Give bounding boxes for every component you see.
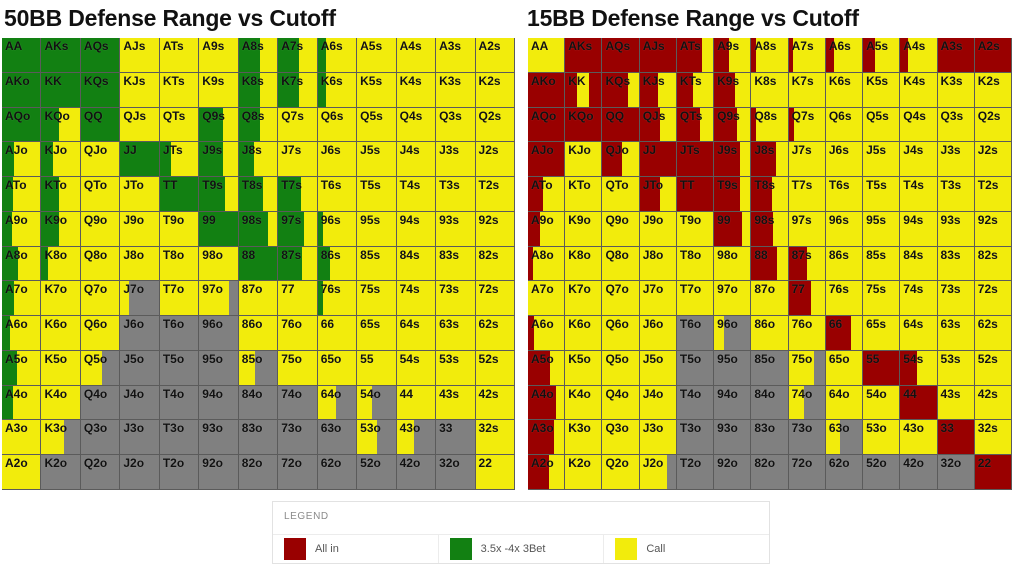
range-cell[interactable]: T7o xyxy=(677,281,714,316)
range-cell[interactable]: 87o xyxy=(751,281,788,316)
range-cell[interactable]: J5s xyxy=(357,142,396,177)
range-cell[interactable]: 86s xyxy=(318,247,357,282)
range-cell[interactable]: T2o xyxy=(160,455,199,490)
range-cell[interactable]: 88 xyxy=(239,247,278,282)
range-cell[interactable]: T5s xyxy=(357,177,396,212)
range-cell[interactable]: J9o xyxy=(640,212,677,247)
range-grid-50bb[interactable]: AAAKsAQsAJsATsA9sA8sA7sA6sA5sA4sA3sA2sAK… xyxy=(2,38,515,490)
range-cell[interactable]: K4o xyxy=(41,386,80,421)
range-cell[interactable]: QTo xyxy=(602,177,639,212)
range-cell[interactable]: Q6o xyxy=(81,316,120,351)
range-cell[interactable]: 64o xyxy=(318,386,357,421)
range-cell[interactable]: T8o xyxy=(160,247,199,282)
range-cell[interactable]: T3o xyxy=(677,420,714,455)
range-cell[interactable]: 85o xyxy=(751,351,788,386)
range-cell[interactable]: 95o xyxy=(714,351,751,386)
range-cell[interactable]: 74s xyxy=(900,281,937,316)
range-cell[interactable]: 93o xyxy=(714,420,751,455)
range-cell[interactable]: 97s xyxy=(278,212,317,247)
range-cell[interactable]: 53s xyxy=(436,351,475,386)
range-cell[interactable]: 65s xyxy=(863,316,900,351)
range-cell[interactable]: 94s xyxy=(900,212,937,247)
range-cell[interactable]: K7o xyxy=(41,281,80,316)
range-cell[interactable]: A8s xyxy=(751,38,788,73)
range-cell[interactable]: ATs xyxy=(677,38,714,73)
range-cell[interactable]: T4s xyxy=(397,177,436,212)
range-cell[interactable]: QQ xyxy=(81,108,120,143)
range-cell[interactable]: 62o xyxy=(826,455,863,490)
range-cell[interactable]: A8o xyxy=(528,247,565,282)
range-cell[interactable]: ATo xyxy=(2,177,41,212)
range-cell[interactable]: A6s xyxy=(826,38,863,73)
range-cell[interactable]: 93s xyxy=(938,212,975,247)
range-cell[interactable]: Q4s xyxy=(900,108,937,143)
range-cell[interactable]: K2s xyxy=(476,73,515,108)
range-cell[interactable]: K5o xyxy=(565,351,602,386)
range-cell[interactable]: T4o xyxy=(677,386,714,421)
range-cell[interactable]: QTs xyxy=(160,108,199,143)
range-cell[interactable]: 75o xyxy=(278,351,317,386)
range-cell[interactable]: 52s xyxy=(975,351,1012,386)
range-cell[interactable]: AKs xyxy=(565,38,602,73)
range-cell[interactable]: Q2s xyxy=(975,108,1012,143)
range-cell[interactable]: 62s xyxy=(476,316,515,351)
range-cell[interactable]: T2s xyxy=(476,177,515,212)
range-cell[interactable]: JTo xyxy=(120,177,159,212)
range-cell[interactable]: 94s xyxy=(397,212,436,247)
range-cell[interactable]: 33 xyxy=(436,420,475,455)
range-cell[interactable]: T7s xyxy=(278,177,317,212)
range-cell[interactable]: JJ xyxy=(120,142,159,177)
range-cell[interactable]: 73o xyxy=(278,420,317,455)
range-cell[interactable]: J7o xyxy=(640,281,677,316)
range-cell[interactable]: 94o xyxy=(714,386,751,421)
range-cell[interactable]: AQs xyxy=(81,38,120,73)
range-cell[interactable]: 83o xyxy=(751,420,788,455)
range-cell[interactable]: A2o xyxy=(528,455,565,490)
range-cell[interactable]: K4s xyxy=(397,73,436,108)
range-cell[interactable]: 53o xyxy=(357,420,396,455)
range-cell[interactable]: Q5o xyxy=(602,351,639,386)
range-cell[interactable]: 96s xyxy=(318,212,357,247)
range-cell[interactable]: Q6s xyxy=(318,108,357,143)
range-cell[interactable]: T9o xyxy=(160,212,199,247)
range-cell[interactable]: J3s xyxy=(436,142,475,177)
range-cell[interactable]: J8s xyxy=(751,142,788,177)
range-cell[interactable]: Q2o xyxy=(81,455,120,490)
range-cell[interactable]: AKo xyxy=(528,73,565,108)
range-cell[interactable]: Q2s xyxy=(476,108,515,143)
range-cell[interactable]: 74s xyxy=(397,281,436,316)
range-cell[interactable]: Q7s xyxy=(789,108,826,143)
range-cell[interactable]: 87s xyxy=(278,247,317,282)
range-cell[interactable]: 86o xyxy=(239,316,278,351)
range-cell[interactable]: KTs xyxy=(677,73,714,108)
range-cell[interactable]: A9s xyxy=(199,38,238,73)
range-cell[interactable]: 43s xyxy=(938,386,975,421)
range-cell[interactable]: AJo xyxy=(2,142,41,177)
range-cell[interactable]: 92s xyxy=(975,212,1012,247)
range-cell[interactable]: K8s xyxy=(239,73,278,108)
range-cell[interactable]: T3s xyxy=(436,177,475,212)
range-cell[interactable]: 84s xyxy=(900,247,937,282)
range-cell[interactable]: 99 xyxy=(714,212,751,247)
range-cell[interactable]: 43o xyxy=(397,420,436,455)
range-cell[interactable]: T4o xyxy=(160,386,199,421)
range-cell[interactable]: Q4o xyxy=(81,386,120,421)
range-cell[interactable]: KTs xyxy=(160,73,199,108)
range-cell[interactable]: 76s xyxy=(318,281,357,316)
range-cell[interactable]: J6s xyxy=(826,142,863,177)
range-cell[interactable]: A4o xyxy=(2,386,41,421)
range-cell[interactable]: 43o xyxy=(900,420,937,455)
range-cell[interactable]: 32s xyxy=(975,420,1012,455)
range-cell[interactable]: 22 xyxy=(975,455,1012,490)
range-cell[interactable]: 63o xyxy=(318,420,357,455)
range-cell[interactable]: Q7o xyxy=(602,281,639,316)
range-cell[interactable]: KQo xyxy=(565,108,602,143)
range-cell[interactable]: KQs xyxy=(602,73,639,108)
range-cell[interactable]: 54s xyxy=(397,351,436,386)
range-cell[interactable]: K9s xyxy=(199,73,238,108)
range-cell[interactable]: K2o xyxy=(565,455,602,490)
range-cell[interactable]: 54o xyxy=(863,386,900,421)
range-cell[interactable]: 72s xyxy=(975,281,1012,316)
range-cell[interactable]: 53o xyxy=(863,420,900,455)
range-cell[interactable]: 97o xyxy=(714,281,751,316)
range-cell[interactable]: K5s xyxy=(357,73,396,108)
range-cell[interactable]: A2s xyxy=(476,38,515,73)
range-cell[interactable]: JJ xyxy=(640,142,677,177)
range-cell[interactable]: T9s xyxy=(199,177,238,212)
range-cell[interactable]: T7o xyxy=(160,281,199,316)
range-cell[interactable]: 97s xyxy=(789,212,826,247)
range-cell[interactable]: 62o xyxy=(318,455,357,490)
range-cell[interactable]: 82o xyxy=(239,455,278,490)
range-cell[interactable]: Q7o xyxy=(81,281,120,316)
range-cell[interactable]: 22 xyxy=(476,455,515,490)
range-cell[interactable]: A4s xyxy=(900,38,937,73)
range-cell[interactable]: 32o xyxy=(938,455,975,490)
range-cell[interactable]: KJo xyxy=(41,142,80,177)
range-cell[interactable]: T2o xyxy=(677,455,714,490)
range-cell[interactable]: 84o xyxy=(239,386,278,421)
range-cell[interactable]: J3o xyxy=(640,420,677,455)
range-cell[interactable]: 65o xyxy=(826,351,863,386)
range-cell[interactable]: Q5s xyxy=(357,108,396,143)
range-cell[interactable]: J4o xyxy=(120,386,159,421)
range-cell[interactable]: 64s xyxy=(397,316,436,351)
range-cell[interactable]: K7o xyxy=(565,281,602,316)
range-cell[interactable]: KQo xyxy=(41,108,80,143)
range-cell[interactable]: 98s xyxy=(751,212,788,247)
range-cell[interactable]: A6s xyxy=(318,38,357,73)
range-cell[interactable]: T3s xyxy=(938,177,975,212)
range-cell[interactable]: QTs xyxy=(677,108,714,143)
range-cell[interactable]: Q3s xyxy=(436,108,475,143)
range-cell[interactable]: 33 xyxy=(938,420,975,455)
range-cell[interactable]: K3o xyxy=(565,420,602,455)
range-cell[interactable]: Q8s xyxy=(751,108,788,143)
range-cell[interactable]: QQ xyxy=(602,108,639,143)
range-cell[interactable]: T9s xyxy=(714,177,751,212)
range-cell[interactable]: J7s xyxy=(278,142,317,177)
range-cell[interactable]: KQs xyxy=(81,73,120,108)
range-cell[interactable]: J2o xyxy=(120,455,159,490)
range-cell[interactable]: Q4o xyxy=(602,386,639,421)
range-cell[interactable]: AKs xyxy=(41,38,80,73)
range-cell[interactable]: T3o xyxy=(160,420,199,455)
range-cell[interactable]: 66 xyxy=(826,316,863,351)
range-cell[interactable]: JTo xyxy=(640,177,677,212)
range-cell[interactable]: K8s xyxy=(751,73,788,108)
range-cell[interactable]: K6s xyxy=(318,73,357,108)
range-cell[interactable]: AQo xyxy=(528,108,565,143)
range-cell[interactable]: 72o xyxy=(789,455,826,490)
range-cell[interactable]: 86o xyxy=(751,316,788,351)
range-cell[interactable]: J5s xyxy=(863,142,900,177)
range-cell[interactable]: 42o xyxy=(397,455,436,490)
range-cell[interactable]: A7s xyxy=(789,38,826,73)
range-cell[interactable]: J6o xyxy=(640,316,677,351)
range-cell[interactable]: JTs xyxy=(160,142,199,177)
range-cell[interactable]: K4s xyxy=(900,73,937,108)
range-cell[interactable]: Q3s xyxy=(938,108,975,143)
range-cell[interactable]: T5o xyxy=(160,351,199,386)
range-cell[interactable]: T2s xyxy=(975,177,1012,212)
range-cell[interactable]: 32s xyxy=(476,420,515,455)
range-cell[interactable]: Q8o xyxy=(602,247,639,282)
range-cell[interactable]: J8o xyxy=(640,247,677,282)
range-cell[interactable]: Q5o xyxy=(81,351,120,386)
range-cell[interactable]: J4s xyxy=(900,142,937,177)
range-cell[interactable]: J5o xyxy=(120,351,159,386)
range-cell[interactable]: J6s xyxy=(318,142,357,177)
range-cell[interactable]: 75s xyxy=(357,281,396,316)
range-cell[interactable]: A7o xyxy=(2,281,41,316)
range-cell[interactable]: KJo xyxy=(565,142,602,177)
range-cell[interactable]: J7o xyxy=(120,281,159,316)
range-cell[interactable]: Q6s xyxy=(826,108,863,143)
range-cell[interactable]: KK xyxy=(41,73,80,108)
range-grid-15bb[interactable]: AAAKsAQsAJsATsA9sA8sA7sA6sA5sA4sA3sA2sAK… xyxy=(528,38,1012,490)
range-cell[interactable]: J3o xyxy=(120,420,159,455)
range-cell[interactable]: K3s xyxy=(938,73,975,108)
range-cell[interactable]: A6o xyxy=(2,316,41,351)
range-cell[interactable]: KK xyxy=(565,73,602,108)
range-cell[interactable]: 42s xyxy=(975,386,1012,421)
range-cell[interactable]: A3o xyxy=(2,420,41,455)
range-cell[interactable]: Q6o xyxy=(602,316,639,351)
range-cell[interactable]: 65s xyxy=(357,316,396,351)
range-cell[interactable]: 82s xyxy=(975,247,1012,282)
range-cell[interactable]: QJs xyxy=(640,108,677,143)
range-cell[interactable]: K8o xyxy=(41,247,80,282)
range-cell[interactable]: J2s xyxy=(476,142,515,177)
range-cell[interactable]: 87o xyxy=(239,281,278,316)
range-cell[interactable]: TT xyxy=(677,177,714,212)
range-cell[interactable]: A9s xyxy=(714,38,751,73)
range-cell[interactable]: T8s xyxy=(751,177,788,212)
range-cell[interactable]: K3s xyxy=(436,73,475,108)
range-cell[interactable]: 92s xyxy=(476,212,515,247)
range-cell[interactable]: 92o xyxy=(199,455,238,490)
range-cell[interactable]: Q3o xyxy=(602,420,639,455)
range-cell[interactable]: T6o xyxy=(677,316,714,351)
range-cell[interactable]: A5o xyxy=(528,351,565,386)
range-cell[interactable]: 64s xyxy=(900,316,937,351)
range-cell[interactable]: K4o xyxy=(565,386,602,421)
range-cell[interactable]: 85o xyxy=(239,351,278,386)
range-cell[interactable]: 85s xyxy=(357,247,396,282)
range-cell[interactable]: K6s xyxy=(826,73,863,108)
range-cell[interactable]: 76s xyxy=(826,281,863,316)
range-cell[interactable]: J8o xyxy=(120,247,159,282)
range-cell[interactable]: K2s xyxy=(975,73,1012,108)
range-cell[interactable]: J3s xyxy=(938,142,975,177)
range-cell[interactable]: 93s xyxy=(436,212,475,247)
range-cell[interactable]: 65o xyxy=(318,351,357,386)
range-cell[interactable]: A5s xyxy=(863,38,900,73)
range-cell[interactable]: Q8o xyxy=(81,247,120,282)
range-cell[interactable]: 93o xyxy=(199,420,238,455)
range-cell[interactable]: J2o xyxy=(640,455,677,490)
range-cell[interactable]: Q3o xyxy=(81,420,120,455)
range-cell[interactable]: AKo xyxy=(2,73,41,108)
range-cell[interactable]: 73o xyxy=(789,420,826,455)
range-cell[interactable]: K9s xyxy=(714,73,751,108)
range-cell[interactable]: 55 xyxy=(357,351,396,386)
range-cell[interactable]: 97o xyxy=(199,281,238,316)
range-cell[interactable]: K3o xyxy=(41,420,80,455)
range-cell[interactable]: T7s xyxy=(789,177,826,212)
range-cell[interactable]: T6s xyxy=(826,177,863,212)
range-cell[interactable]: 76o xyxy=(789,316,826,351)
range-cell[interactable]: A5s xyxy=(357,38,396,73)
range-cell[interactable]: A3s xyxy=(938,38,975,73)
range-cell[interactable]: A4o xyxy=(528,386,565,421)
range-cell[interactable]: AA xyxy=(528,38,565,73)
range-cell[interactable]: A3s xyxy=(436,38,475,73)
range-cell[interactable]: 92o xyxy=(714,455,751,490)
range-cell[interactable]: J4s xyxy=(397,142,436,177)
range-cell[interactable]: K5s xyxy=(863,73,900,108)
range-cell[interactable]: 95s xyxy=(357,212,396,247)
range-cell[interactable]: QJs xyxy=(120,108,159,143)
range-cell[interactable]: J8s xyxy=(239,142,278,177)
range-cell[interactable]: 84o xyxy=(751,386,788,421)
range-cell[interactable]: 72o xyxy=(278,455,317,490)
range-cell[interactable]: 75o xyxy=(789,351,826,386)
range-cell[interactable]: T8o xyxy=(677,247,714,282)
range-cell[interactable]: Q9s xyxy=(199,108,238,143)
range-cell[interactable]: 96o xyxy=(199,316,238,351)
range-cell[interactable]: K7s xyxy=(278,73,317,108)
range-cell[interactable]: 43s xyxy=(436,386,475,421)
range-cell[interactable]: 55 xyxy=(863,351,900,386)
range-cell[interactable]: Q4s xyxy=(397,108,436,143)
range-cell[interactable]: A2o xyxy=(2,455,41,490)
range-cell[interactable]: K9o xyxy=(565,212,602,247)
range-cell[interactable]: J2s xyxy=(975,142,1012,177)
range-cell[interactable]: ATo xyxy=(528,177,565,212)
range-cell[interactable]: 82s xyxy=(476,247,515,282)
range-cell[interactable]: 72s xyxy=(476,281,515,316)
range-cell[interactable]: K9o xyxy=(41,212,80,247)
range-cell[interactable]: 63o xyxy=(826,420,863,455)
range-cell[interactable]: KTo xyxy=(41,177,80,212)
range-cell[interactable]: 77 xyxy=(789,281,826,316)
range-cell[interactable]: 52s xyxy=(476,351,515,386)
range-cell[interactable]: 96s xyxy=(826,212,863,247)
range-cell[interactable]: 83s xyxy=(436,247,475,282)
range-cell[interactable]: 74o xyxy=(278,386,317,421)
range-cell[interactable]: TT xyxy=(160,177,199,212)
range-cell[interactable]: J9s xyxy=(199,142,238,177)
range-cell[interactable]: K5o xyxy=(41,351,80,386)
range-cell[interactable]: Q2o xyxy=(602,455,639,490)
range-cell[interactable]: J4o xyxy=(640,386,677,421)
range-cell[interactable]: 96o xyxy=(714,316,751,351)
range-cell[interactable]: 66 xyxy=(318,316,357,351)
range-cell[interactable]: 99 xyxy=(199,212,238,247)
range-cell[interactable]: 32o xyxy=(436,455,475,490)
range-cell[interactable]: AQs xyxy=(602,38,639,73)
range-cell[interactable]: KJs xyxy=(120,73,159,108)
range-cell[interactable]: 83o xyxy=(239,420,278,455)
range-cell[interactable]: 53s xyxy=(938,351,975,386)
range-cell[interactable]: T6o xyxy=(160,316,199,351)
range-cell[interactable]: 86s xyxy=(826,247,863,282)
range-cell[interactable]: T9o xyxy=(677,212,714,247)
range-cell[interactable]: AQo xyxy=(2,108,41,143)
range-cell[interactable]: J9o xyxy=(120,212,159,247)
range-cell[interactable]: 83s xyxy=(938,247,975,282)
range-cell[interactable]: 54o xyxy=(357,386,396,421)
range-cell[interactable]: 95o xyxy=(199,351,238,386)
range-cell[interactable]: 73s xyxy=(938,281,975,316)
range-cell[interactable]: 44 xyxy=(397,386,436,421)
range-cell[interactable]: JTs xyxy=(677,142,714,177)
range-cell[interactable]: 82o xyxy=(751,455,788,490)
range-cell[interactable]: 42o xyxy=(900,455,937,490)
range-cell[interactable]: 98o xyxy=(714,247,751,282)
range-cell[interactable]: AJs xyxy=(640,38,677,73)
range-cell[interactable]: J5o xyxy=(640,351,677,386)
range-cell[interactable]: QJo xyxy=(81,142,120,177)
range-cell[interactable]: T5s xyxy=(863,177,900,212)
range-cell[interactable]: 63s xyxy=(938,316,975,351)
range-cell[interactable]: Q5s xyxy=(863,108,900,143)
range-cell[interactable]: QTo xyxy=(81,177,120,212)
range-cell[interactable]: 63s xyxy=(436,316,475,351)
range-cell[interactable]: A9o xyxy=(2,212,41,247)
range-cell[interactable]: T6s xyxy=(318,177,357,212)
range-cell[interactable]: 52o xyxy=(863,455,900,490)
range-cell[interactable]: AA xyxy=(2,38,41,73)
range-cell[interactable]: KJs xyxy=(640,73,677,108)
range-cell[interactable]: K8o xyxy=(565,247,602,282)
range-cell[interactable]: J7s xyxy=(789,142,826,177)
range-cell[interactable]: A8s xyxy=(239,38,278,73)
range-cell[interactable]: 62s xyxy=(975,316,1012,351)
range-cell[interactable]: A4s xyxy=(397,38,436,73)
range-cell[interactable]: 84s xyxy=(397,247,436,282)
range-cell[interactable]: 73s xyxy=(436,281,475,316)
range-cell[interactable]: 87s xyxy=(789,247,826,282)
range-cell[interactable]: AJo xyxy=(528,142,565,177)
range-cell[interactable]: 42s xyxy=(476,386,515,421)
